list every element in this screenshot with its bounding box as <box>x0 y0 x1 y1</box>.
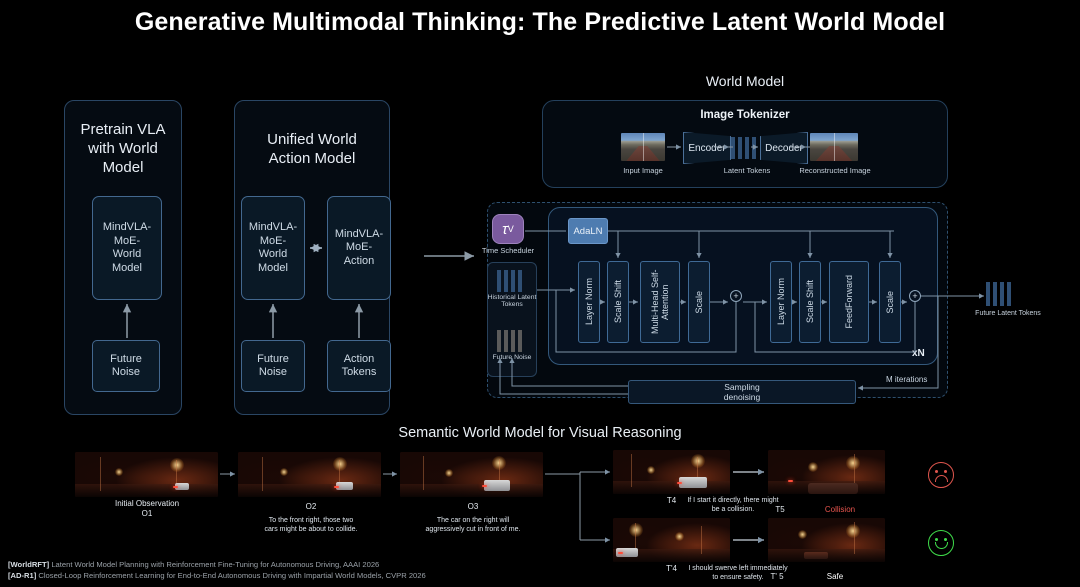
block-label: Layer Norm <box>584 278 594 325</box>
sad-face-icon <box>928 462 954 488</box>
frame-obs-1 <box>75 452 218 497</box>
decoder-label: Decoder <box>765 143 803 154</box>
subcaption-obs-2: To the front right, those two cars might… <box>232 516 390 534</box>
sampling-denoising-box[interactable]: Sampling denoising <box>628 380 856 404</box>
verdict-safe: Safe <box>800 572 870 582</box>
pretrain-world-model-box[interactable]: MindVLA- MoE- World Model <box>92 196 162 300</box>
slide-root: Generative Multimodal Thinking: The Pred… <box>0 0 1080 587</box>
residual-add-2: + <box>909 290 921 302</box>
residual-add-1: + <box>730 290 742 302</box>
time-scheduler-subscript: V <box>508 224 514 234</box>
block-label: Scale Shift <box>805 280 815 323</box>
tokenizer-output-caption: Reconstructed Image <box>794 166 876 175</box>
footnote-2: [AD-R1] Closed-Loop Reinforcement Learni… <box>8 570 426 581</box>
block-layer-norm-2[interactable]: Layer Norm <box>770 261 792 343</box>
footnote-2-tag: [AD-R1] <box>8 571 36 580</box>
unified-title-line-1: Unified World <box>234 130 390 149</box>
happy-face-icon <box>928 530 954 556</box>
image-tokenizer-title: Image Tokenizer <box>543 109 947 121</box>
frame-t4-prime <box>613 518 730 562</box>
page-title: Generative Multimodal Thinking: The Pred… <box>0 8 1080 37</box>
adaln-box[interactable]: AdaLN <box>568 218 608 244</box>
encoder-block[interactable]: Encoder <box>683 132 731 164</box>
encoder-label: Encoder <box>688 143 725 154</box>
frame-t4 <box>613 450 730 494</box>
tokenizer-input-image <box>621 133 665 161</box>
unified-world-model-box[interactable]: MindVLA- MoE- World Model <box>241 196 305 300</box>
footnote-2-text: Closed-Loop Reinforcement Learning for E… <box>36 571 425 580</box>
footnote-1-tag: [WorldRFT] <box>8 560 49 569</box>
unified-action-model-box[interactable]: MindVLA- MoE- Action <box>327 196 391 300</box>
pretrain-vla-title: Pretrain VLA with World Model <box>64 120 182 177</box>
tokenizer-output-image <box>810 133 858 161</box>
time-scheduler-box[interactable]: τV <box>492 214 524 244</box>
tokenizer-input-caption: Input Image <box>606 166 680 175</box>
m-iterations-label: M iterations <box>886 375 927 384</box>
historical-latent-caption: Historical Latent Tokens <box>482 294 542 308</box>
unified-title: Unified World Action Model <box>234 130 390 168</box>
block-label: Multi-Head Self-Attention <box>650 264 670 340</box>
pretrain-future-noise-box[interactable]: Future Noise <box>92 340 160 392</box>
block-scale-shift-2[interactable]: Scale Shift <box>799 261 821 343</box>
frame-t5 <box>768 450 885 494</box>
world-model-heading: World Model <box>540 73 950 89</box>
tokenizer-latent-caption: Latent Tokens <box>707 166 787 175</box>
unified-future-noise-box[interactable]: Future Noise <box>241 340 305 392</box>
time-scheduler-caption: Time Scheduler <box>478 246 538 255</box>
block-feedforward[interactable]: FeedForward <box>829 261 869 343</box>
tokenizer-latent-bars <box>731 137 756 159</box>
footnote-1-text: Latent World Model Planning with Reinfor… <box>49 560 379 569</box>
block-multi-head-self-attention[interactable]: Multi-Head Self-Attention <box>640 261 680 343</box>
unified-title-line-2: Action Model <box>234 149 390 168</box>
unified-action-tokens-box[interactable]: Action Tokens <box>327 340 391 392</box>
footnote-1: [WorldRFT] Latent World Model Planning w… <box>8 559 379 570</box>
future-noise-caption: Future Noise <box>482 354 542 361</box>
block-scale-2[interactable]: Scale <box>879 261 901 343</box>
decoder-block[interactable]: Decoder <box>760 132 808 164</box>
block-scale-1[interactable]: Scale <box>688 261 710 343</box>
subcaption-obs-3: The car on the right will aggressively c… <box>394 516 552 534</box>
caption-obs-3: O3 <box>394 502 552 512</box>
pretrain-title-line-2: with World <box>64 139 182 158</box>
block-label: Scale Shift <box>613 280 623 323</box>
block-label: Layer Norm <box>776 278 786 325</box>
verdict-collision: Collision <box>805 505 875 515</box>
caption-obs-1: Initial Observation O1 <box>68 499 226 519</box>
frame-t5-prime <box>768 518 885 562</box>
caption-obs-2: O2 <box>232 502 390 512</box>
future-latent-tokens-caption: Future Latent Tokens <box>958 310 1058 317</box>
block-scale-shift-1[interactable]: Scale Shift <box>607 261 629 343</box>
semantic-heading: Semantic World Model for Visual Reasonin… <box>0 425 1080 441</box>
label-t5: T5 <box>760 505 800 515</box>
frame-obs-2 <box>238 452 381 497</box>
block-label: Scale <box>885 291 895 314</box>
block-layer-norm-1[interactable]: Layer Norm <box>578 261 600 343</box>
block-label: FeedForward <box>844 275 854 329</box>
label-t5-prime: T' 5 <box>757 572 797 582</box>
pretrain-title-line-1: Pretrain VLA <box>64 120 182 139</box>
repeat-n-label: xN <box>912 348 925 359</box>
future-noise-bars <box>497 330 522 352</box>
frame-obs-3 <box>400 452 543 497</box>
future-latent-tokens-bars <box>986 282 1011 306</box>
pretrain-title-line-3: Model <box>64 158 182 177</box>
historical-latent-bars <box>497 270 522 292</box>
block-label: Scale <box>694 291 704 314</box>
